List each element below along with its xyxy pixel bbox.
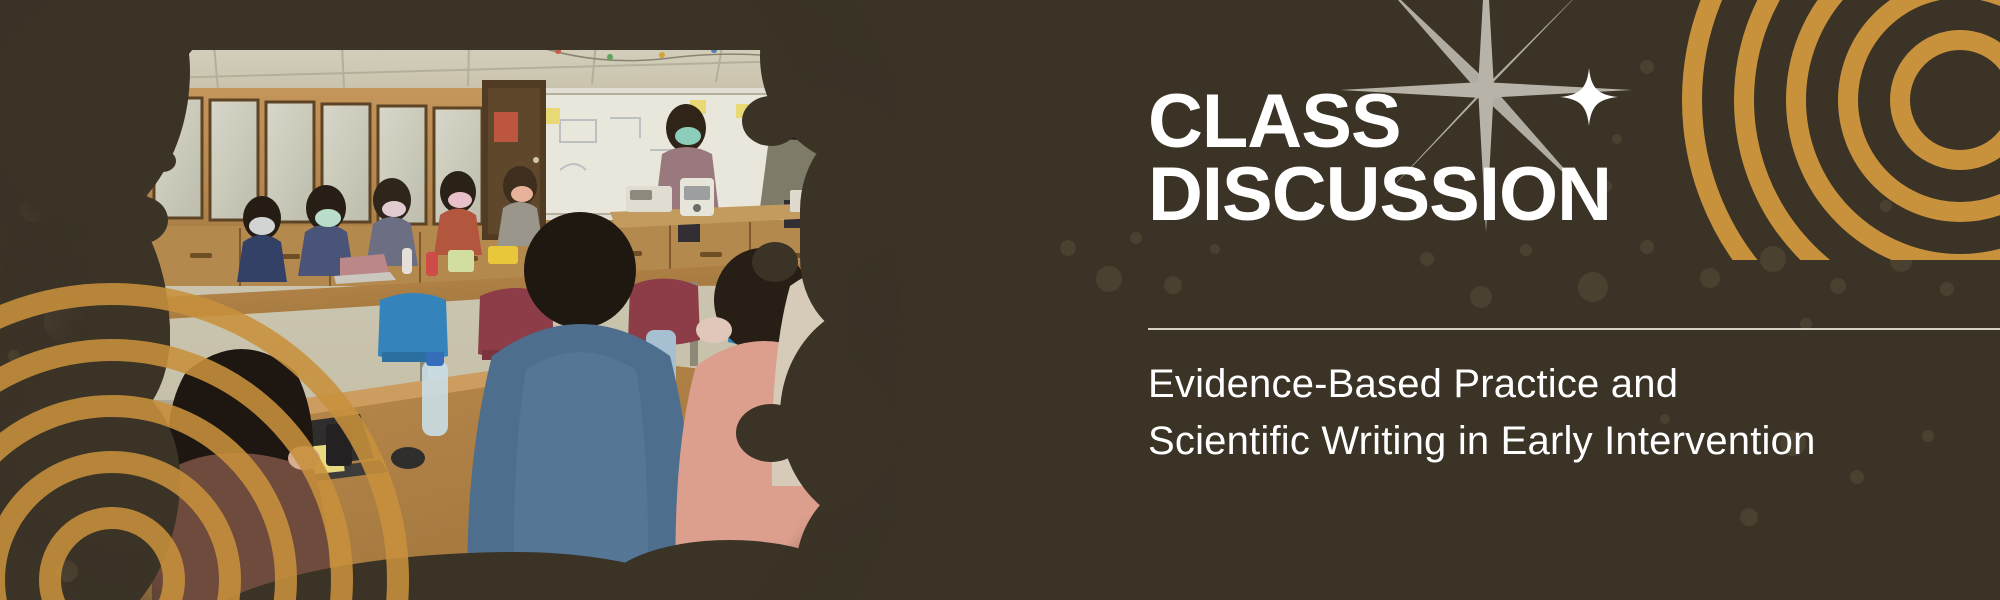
class-discussion-banner: CLASS DISCUSSION Evidence-Based Practice… [0, 0, 2000, 600]
page-title: CLASS DISCUSSION [1148, 86, 2000, 232]
classroom-photo-container [0, 0, 900, 600]
page-subtitle: Evidence-Based Practice and Scientific W… [1148, 356, 2000, 470]
subtitle-line-2: Scientific Writing in Early Intervention [1148, 413, 2000, 470]
banner-text-block: CLASS DISCUSSION Evidence-Based Practice… [1148, 0, 2000, 600]
classroom-photo [90, 0, 900, 600]
headline-line-2: DISCUSSION [1148, 159, 2000, 232]
headline-line-1: CLASS [1148, 86, 2000, 159]
subtitle-line-1: Evidence-Based Practice and [1148, 356, 2000, 413]
title-subtitle-divider [1148, 328, 2000, 330]
